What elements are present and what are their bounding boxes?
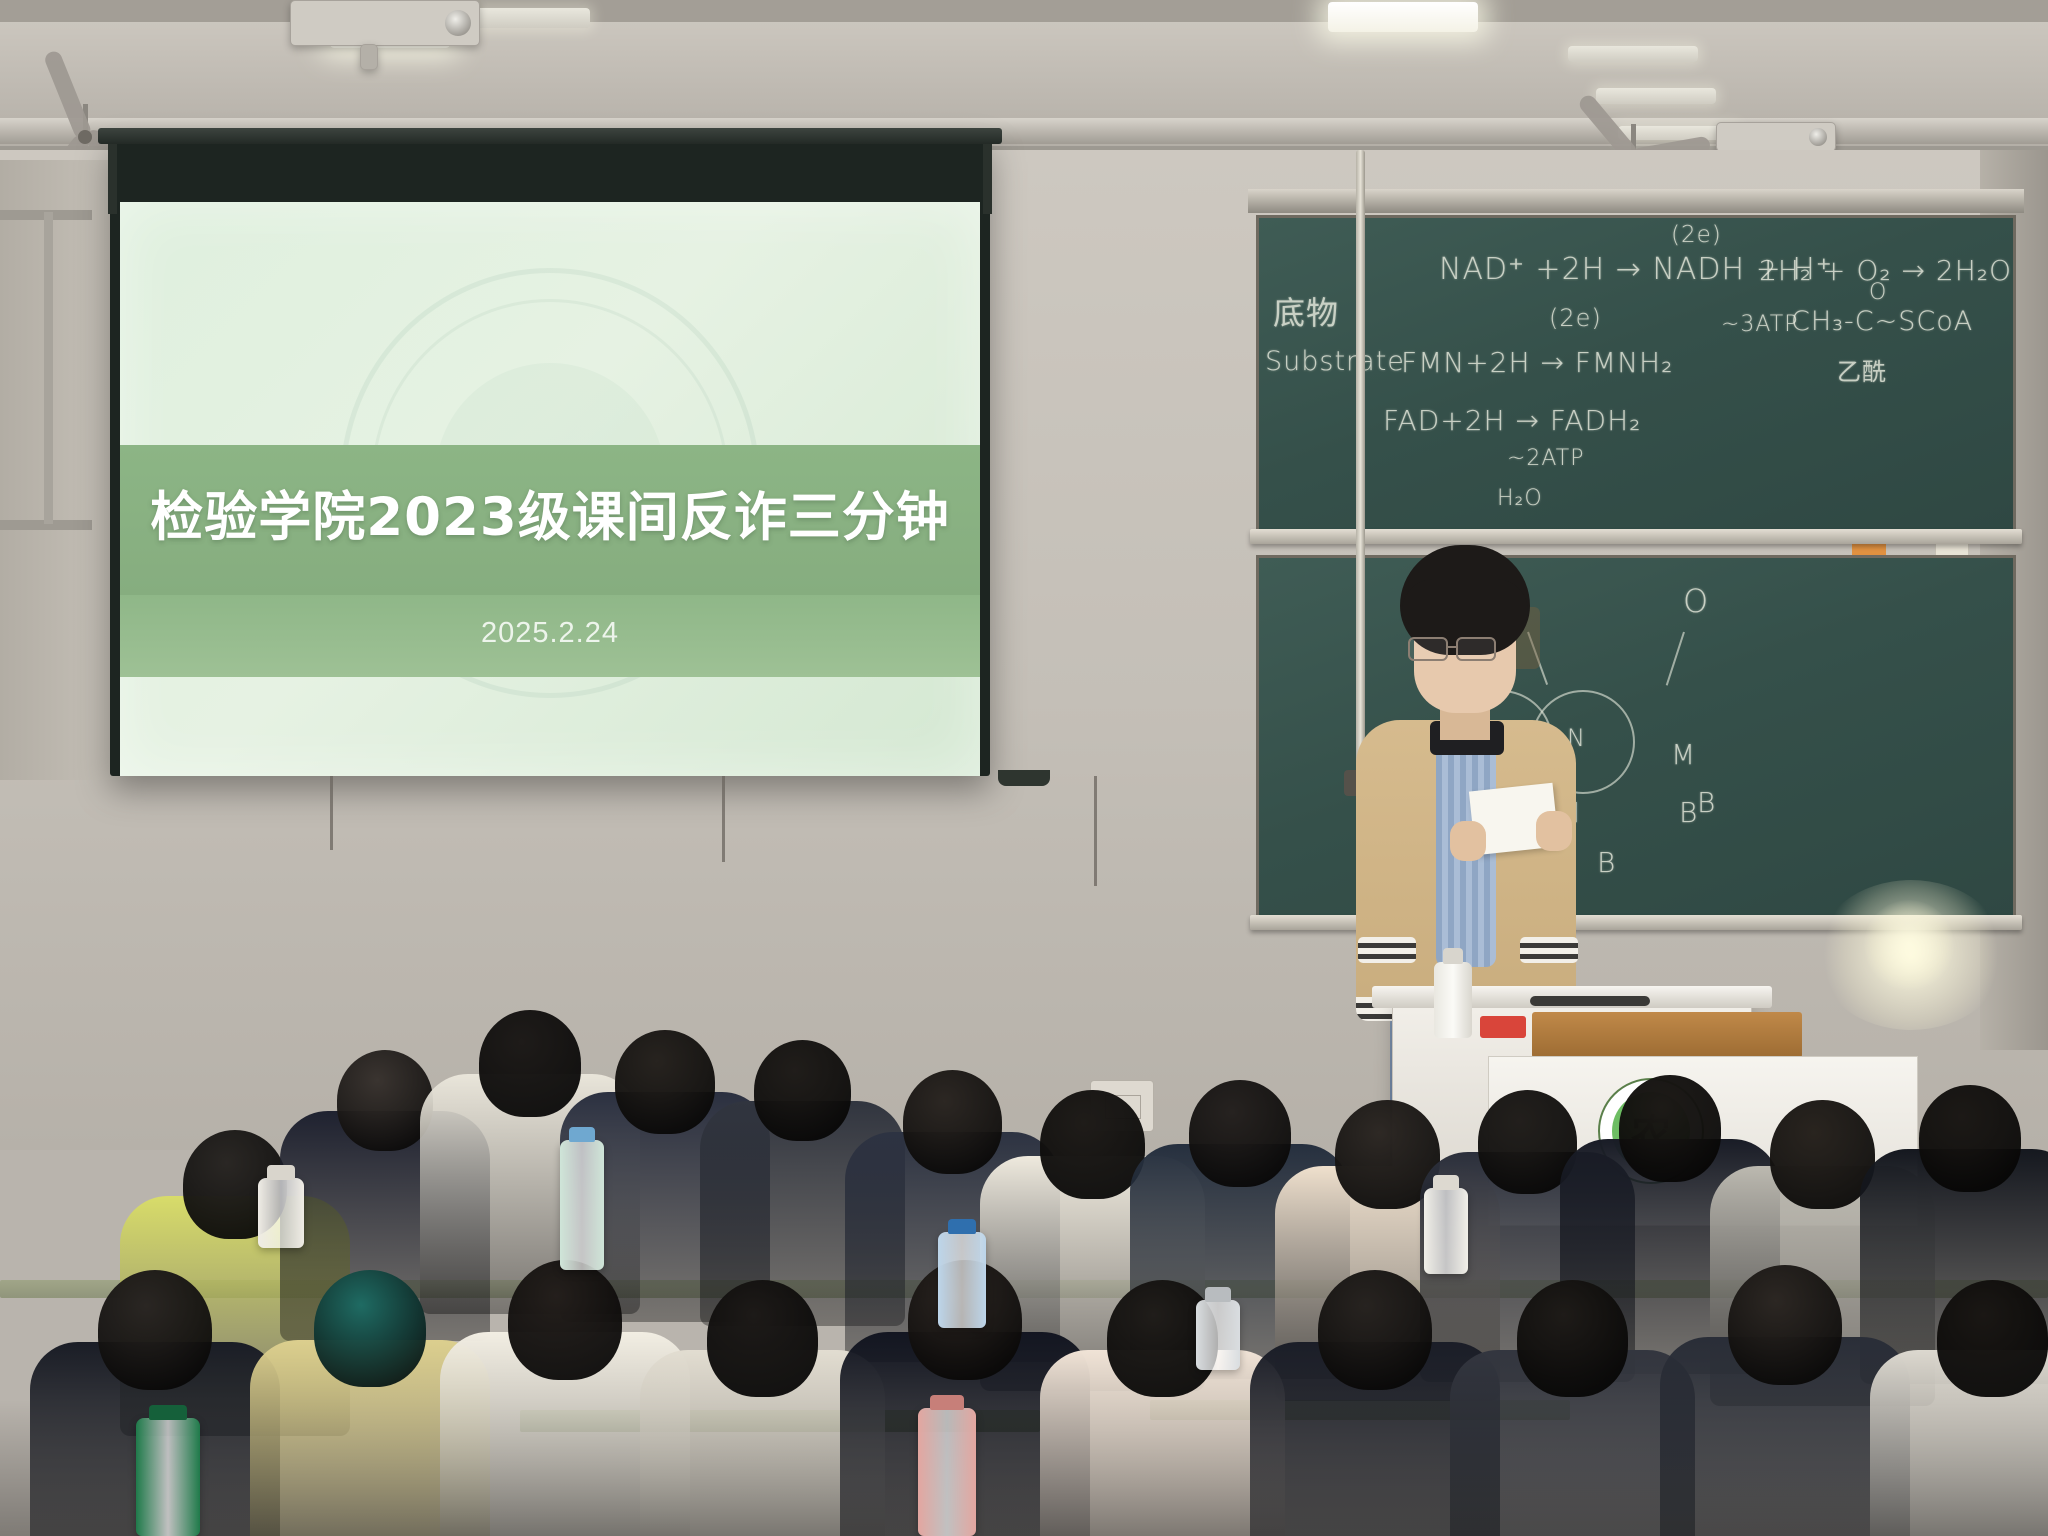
screen-pull-handle[interactable]	[998, 770, 1050, 786]
audience-person-head	[314, 1270, 426, 1387]
chalk-text: B	[1697, 786, 1716, 819]
glasses-bridge-icon	[1448, 646, 1458, 648]
bottle-blue[interactable]	[938, 1232, 986, 1328]
window-glare	[1864, 900, 1954, 990]
fluorescent-tube-icon	[1568, 46, 1698, 62]
screen-roller	[98, 128, 1002, 144]
screen-arm	[983, 144, 992, 214]
audience-person	[1870, 1280, 2048, 1536]
projection-screen: 检验学院2023级课间反诈三分钟 2025.2.24	[110, 136, 990, 776]
presenter-hand	[1450, 821, 1486, 861]
fluorescent-tube-icon	[1596, 88, 1716, 104]
audience-person-head	[1728, 1265, 1842, 1385]
projector-lens-icon	[1809, 128, 1827, 146]
chalk-text: (2e)	[1671, 222, 1722, 248]
bottle-cap-icon	[267, 1165, 295, 1180]
bottle-cap-icon	[1433, 1175, 1459, 1190]
projector-lens-icon	[445, 10, 471, 36]
audience-person-head	[1937, 1280, 2048, 1397]
slide-canvas: 检验学院2023级课间反诈三分钟 2025.2.24	[120, 202, 980, 776]
audience-person-head	[1318, 1270, 1432, 1390]
audience-person-head	[707, 1280, 819, 1397]
blackboard-upper: 底物 Substrate NAD⁺ +2H → NADH + H⁺ (2e) (…	[1256, 215, 2016, 533]
projector-icon	[290, 0, 480, 46]
bottle-cap-icon	[930, 1395, 965, 1410]
presenter-hand	[1536, 811, 1572, 851]
presenter-cuff	[1358, 937, 1416, 963]
audience-person-head	[754, 1040, 851, 1141]
ceiling-fan-icon	[78, 130, 92, 144]
bottle-cap-icon	[149, 1405, 187, 1420]
audience-person-head	[1770, 1100, 1874, 1209]
audience-area	[0, 980, 2048, 1536]
chalk-text: B	[1679, 796, 1698, 829]
glasses-icon	[1408, 637, 1448, 661]
bottle-cap-icon	[569, 1127, 595, 1142]
audience-person-head	[508, 1260, 622, 1380]
fan-hub	[78, 130, 92, 144]
presenter-cuff	[1520, 937, 1578, 963]
slide-title: 检验学院2023级课间反诈三分钟	[120, 452, 980, 584]
bottle-cap-icon	[1443, 948, 1463, 964]
wall-frame-line	[44, 212, 53, 524]
glasses-icon	[1456, 637, 1496, 661]
slide-date: 2025.2.24	[120, 602, 980, 664]
chalk-text: (2e)	[1549, 304, 1602, 332]
bottle-cap-icon	[948, 1219, 977, 1234]
thermos-green[interactable]	[136, 1418, 200, 1536]
fluorescent-tube-icon	[470, 8, 590, 28]
chalk-text: O	[1683, 582, 1709, 620]
audience-person-head	[1040, 1090, 1144, 1199]
fluorescent-tube-icon	[1328, 2, 1478, 32]
thermos-white[interactable]	[258, 1178, 304, 1248]
projector-mount	[360, 44, 378, 70]
audience-person	[1450, 1280, 1695, 1536]
chalk-text: ~3ATP	[1721, 312, 1798, 337]
bottle-clear[interactable]	[560, 1140, 604, 1270]
chalk-text: CH₃-C~SCoA	[1791, 306, 1973, 337]
chalk-text: B	[1597, 846, 1616, 879]
audience-person-head	[1919, 1085, 2021, 1192]
audience-person-head	[1619, 1075, 1721, 1182]
bottle-cap-icon	[1205, 1287, 1231, 1302]
presenter-hair-fringe	[1402, 579, 1528, 627]
audience-person-head	[1517, 1280, 1629, 1397]
chalk-text: Substrate	[1265, 346, 1405, 377]
bottle-white2[interactable]	[1424, 1188, 1468, 1274]
chalk-text: FAD+2H → FADH₂	[1383, 404, 1641, 437]
chalk-text: 底物	[1273, 288, 1339, 334]
classroom-scene: 检验学院2023级课间反诈三分钟 2025.2.24 底物 Substrate …	[0, 0, 2048, 1536]
audience-person	[1040, 1280, 1285, 1536]
chalk-text: 乙酰	[1837, 352, 1887, 387]
left-wall-panel	[0, 160, 120, 780]
bottle-pink[interactable]	[918, 1408, 976, 1536]
screen-cord	[722, 776, 725, 862]
screen-arm	[108, 144, 117, 214]
bottle-grey[interactable]	[1196, 1300, 1240, 1370]
chalk-text: H₂O	[1497, 486, 1543, 511]
chalk-text: M	[1671, 738, 1696, 771]
projector-icon	[1716, 122, 1836, 152]
audience-person-head	[337, 1050, 434, 1151]
audience-person-head	[98, 1270, 212, 1390]
chalk-text: ~2ATP	[1507, 446, 1584, 471]
chalk-ledge	[1250, 529, 2022, 544]
screen-cord	[330, 776, 333, 850]
screen-cord	[1094, 776, 1097, 886]
chalk-text: FMN+2H → FMNH₂	[1401, 346, 1673, 379]
chalk-text: O	[1869, 280, 1887, 305]
chalk-arrow	[1666, 632, 1685, 686]
